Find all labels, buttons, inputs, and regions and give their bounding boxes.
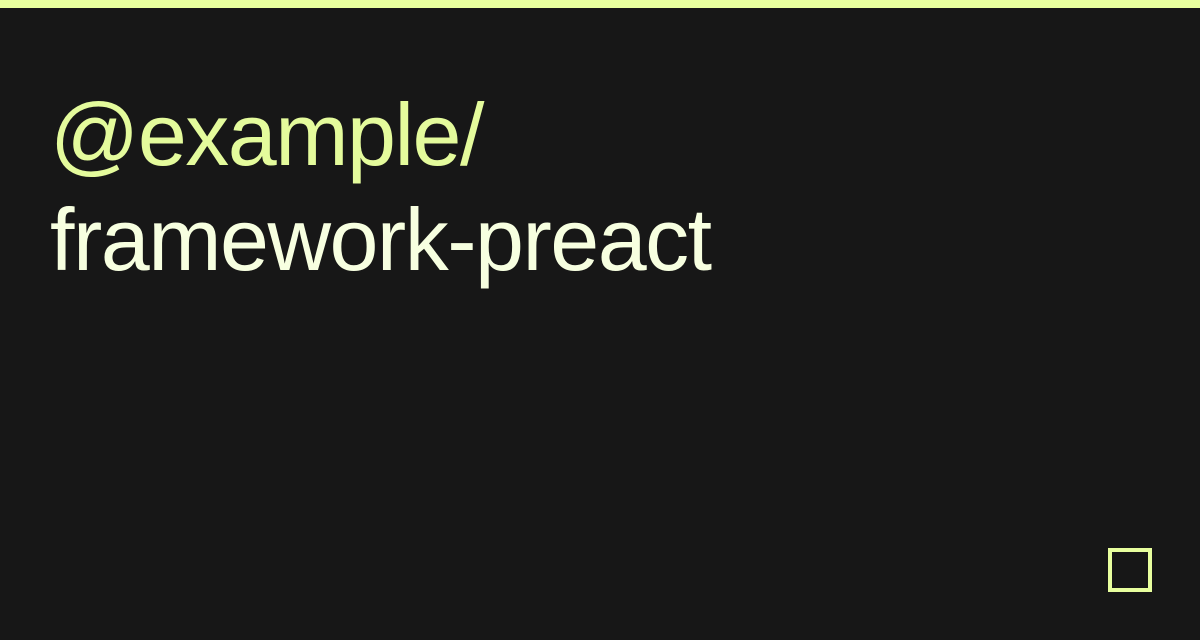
square-outline-icon	[1108, 548, 1152, 592]
page-title: @example/ framework-preact	[50, 82, 1050, 292]
top-accent-bar	[0, 0, 1200, 8]
package-social-card: @example/ framework-preact	[0, 0, 1200, 640]
package-scope: @example/	[50, 82, 1050, 187]
package-name: framework-preact	[50, 187, 1050, 292]
